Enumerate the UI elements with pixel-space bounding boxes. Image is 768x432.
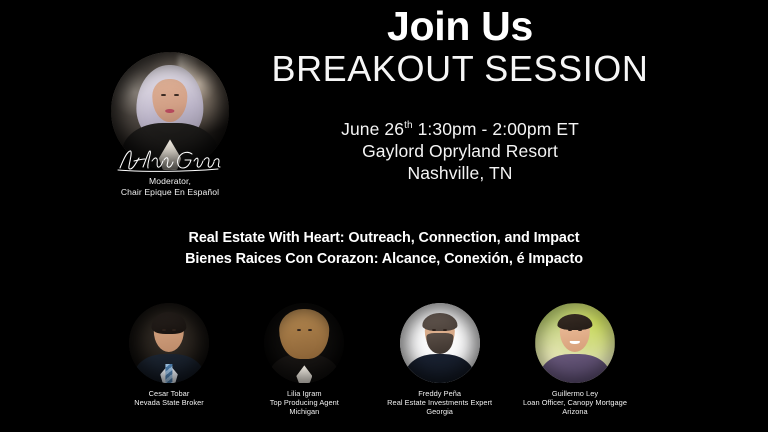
panelist-title: Real Estate Investments Expert (375, 398, 505, 407)
event-city: Nashville, TN (180, 162, 740, 184)
event-date: June 26 (341, 119, 404, 139)
portrait-vignette (264, 303, 344, 383)
panelist-name: Cesar Tobar (104, 389, 234, 398)
panelist-list: Cesar Tobar Nevada State Broker Lilia Ig… (104, 303, 640, 417)
panelist-name: Freddy Peña (375, 389, 505, 398)
panelist-title: Nevada State Broker (104, 398, 234, 407)
panelist-location: Michigan (239, 407, 369, 416)
portrait-vignette (535, 303, 615, 383)
panelist-caption: Lilia Igram Top Producing Agent Michigan (239, 389, 369, 417)
panelist-portrait-lilia-igram (264, 303, 344, 383)
portrait-vignette (129, 303, 209, 383)
panelist-item: Guillermo Ley Loan Officer, Canopy Mortg… (510, 303, 640, 417)
event-datetime: June 26th 1:30pm - 2:00pm ET (180, 118, 740, 140)
session-title-block: Real Estate With Heart: Outreach, Connec… (84, 228, 684, 270)
event-date-ordinal: th (404, 120, 413, 131)
event-venue: Gaylord Opryland Resort (180, 140, 740, 162)
panelist-item: Lilia Igram Top Producing Agent Michigan (239, 303, 369, 417)
event-details: June 26th 1:30pm - 2:00pm ET Gaylord Opr… (180, 118, 740, 184)
panelist-caption: Cesar Tobar Nevada State Broker (104, 389, 234, 407)
panelist-location: Arizona (510, 407, 640, 416)
panelist-location: Georgia (375, 407, 505, 416)
panelist-portrait-guillermo-ley (535, 303, 615, 383)
join-us-title: Join Us (180, 2, 740, 50)
panelist-caption: Guillermo Ley Loan Officer, Canopy Mortg… (510, 389, 640, 417)
panelist-portrait-freddy-pena (400, 303, 480, 383)
session-title-en: Real Estate With Heart: Outreach, Connec… (84, 228, 684, 249)
event-time: 1:30pm - 2:00pm ET (413, 119, 579, 139)
moderator-affiliation: Chair Epique En Español (84, 187, 256, 198)
headline-block: Join Us BREAKOUT SESSION (180, 2, 740, 90)
panelist-item: Freddy Peña Real Estate Investments Expe… (375, 303, 505, 417)
panelist-portrait-cesar-tobar (129, 303, 209, 383)
breakout-session-title: BREAKOUT SESSION (180, 48, 740, 90)
portrait-vignette (400, 303, 480, 383)
panelist-caption: Freddy Peña Real Estate Investments Expe… (375, 389, 505, 417)
panelist-title: Loan Officer, Canopy Mortgage (510, 398, 640, 407)
event-flyer: Moderator, Chair Epique En Español Join … (0, 0, 768, 432)
panelist-name: Guillermo Ley (510, 389, 640, 398)
panelist-title: Top Producing Agent (239, 398, 369, 407)
panelist-item: Cesar Tobar Nevada State Broker (104, 303, 234, 417)
panelist-name: Lilia Igram (239, 389, 369, 398)
session-title-es: Bienes Raices Con Corazon: Alcance, Cone… (84, 249, 684, 270)
